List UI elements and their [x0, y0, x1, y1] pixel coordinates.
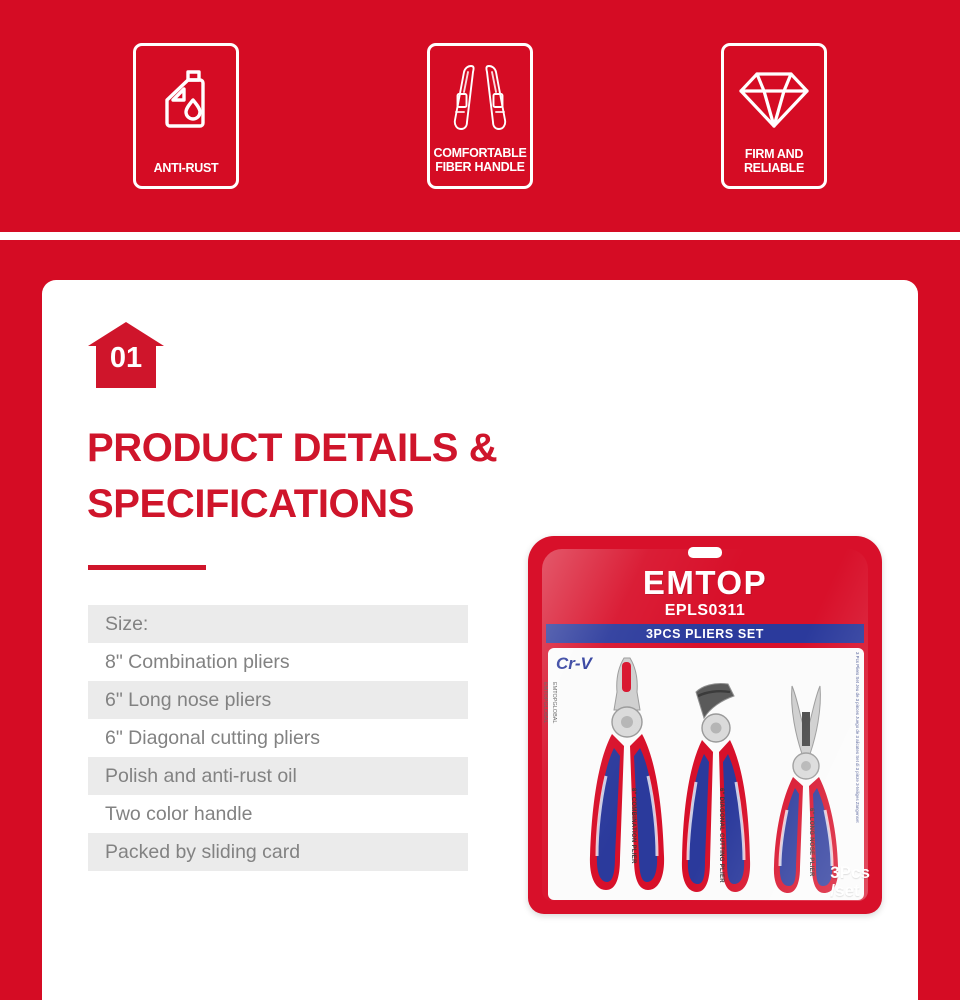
product-detail-page: ANTI-RUST	[0, 0, 960, 1000]
diagonal-cutter-illustration	[676, 670, 756, 894]
diamond-icon	[739, 60, 809, 138]
content-card: 01 PRODUCT DETAILS & SPECIFICATIONS Size…	[42, 280, 918, 1000]
spec-row: Two color handle	[88, 795, 468, 833]
spec-row: 6" Long nose pliers	[88, 681, 468, 719]
title-underline-rule	[88, 565, 206, 570]
tool-name: 8" COMBINATION PLIER	[630, 788, 636, 864]
banner-separator	[0, 232, 960, 240]
blister-card-backing: EMTOP EPLS0311 3PCS PLIERS SET Cr-V EMTO…	[528, 536, 882, 914]
tool-name: 6" LONG NOSE PLIER	[808, 808, 814, 877]
quantity-badge: 3Pcs /set	[830, 864, 870, 900]
spec-row: 6" Diagonal cutting pliers	[88, 719, 468, 757]
feature-badge-group: ANTI-RUST	[0, 0, 960, 232]
set-label-text: 3PCS PLIERS SET	[646, 627, 764, 641]
feature-badge-anti-rust: ANTI-RUST	[133, 43, 239, 189]
feature-badge-label: ANTI-RUST	[136, 162, 236, 176]
feature-banner: ANTI-RUST	[0, 0, 960, 232]
page-title: PRODUCT DETAILS & SPECIFICATIONS	[87, 420, 607, 532]
set-label-bar: 3PCS PLIERS SET	[546, 624, 864, 643]
blister-package: EMTOP EPLS0311 3PCS PLIERS SET Cr-V EMTO…	[520, 528, 890, 920]
specification-list: Size: 8" Combination pliers 6" Long nose…	[88, 605, 468, 871]
combination-plier-illustration	[584, 656, 670, 894]
social-handles: EMTOPGLOBAL EMTOPGLOBAL	[540, 682, 558, 723]
feature-badge-firm-reliable: FIRM AND RELIABLE	[721, 43, 827, 189]
oil-can-icon	[155, 60, 217, 138]
spec-row: Size:	[88, 605, 468, 643]
spec-row: Polish and anti-rust oil	[88, 757, 468, 795]
section-number-badge: 01	[86, 320, 166, 390]
section-number: 01	[86, 342, 166, 375]
page-title-line2: SPECIFICATIONS	[87, 476, 607, 532]
feature-badge-label: COMFORTABLE FIBER HANDLE	[430, 147, 530, 174]
page-title-line1: PRODUCT DETAILS &	[87, 420, 607, 476]
tool-name: 6" DIAGONAL CUTTING PLIER	[718, 788, 724, 883]
tool-diagonal-cutting-plier: 6" DIAGONAL CUTTING PLIER	[676, 670, 756, 894]
quantity-line1: 3Pcs	[830, 864, 870, 882]
product-model-number: EPLS0311	[528, 602, 882, 620]
plier-handles-icon	[447, 60, 513, 138]
product-tray: Cr-V EMTOPGLOBAL EMTOPGLOBAL 3 Pcs Plier…	[548, 648, 864, 900]
hang-tab-hole	[688, 547, 722, 558]
quantity-line2: /set	[830, 882, 870, 900]
feature-badge-label: FIRM AND RELIABLE	[724, 148, 824, 175]
feature-badge-fiber-handle: COMFORTABLE FIBER HANDLE	[427, 43, 533, 189]
social-handle: EMTOPGLOBAL	[540, 682, 549, 723]
product-image: EMTOP EPLS0311 3PCS PLIERS SET Cr-V EMTO…	[520, 528, 916, 928]
spec-row: Packed by sliding card	[88, 833, 468, 871]
social-handle: EMTOPGLOBAL	[549, 682, 558, 723]
spec-row: 8" Combination pliers	[88, 643, 468, 681]
tool-combination-plier: 8" COMBINATION PLIER	[584, 656, 670, 894]
brand-logo: EMTOP	[528, 564, 882, 602]
